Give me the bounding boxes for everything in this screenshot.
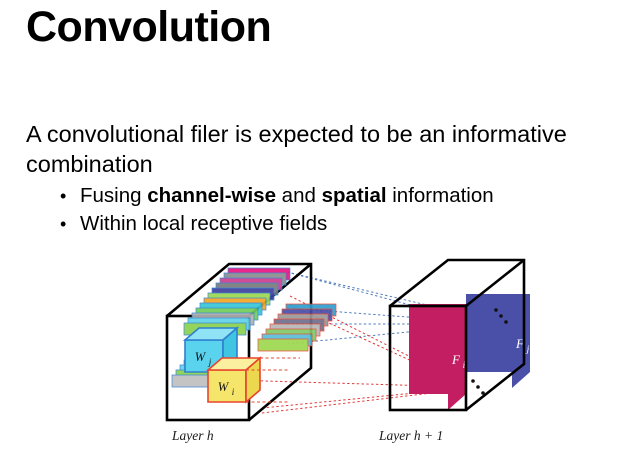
- bullet-0-bold-2: spatial: [322, 184, 387, 207]
- convolution-diagram: W j W i F j F i: [0, 248, 640, 454]
- bullet-marker-icon: •: [60, 210, 80, 238]
- caption-layer-h-plus-1: Layer h + 1: [379, 428, 443, 444]
- bullet-0-prefix: Fusing: [80, 184, 147, 207]
- bullet-1-prefix: Within local receptive fields: [80, 212, 327, 235]
- caption-layer-h: Layer h: [172, 428, 214, 444]
- list-item-label: Within local receptive fields: [80, 210, 327, 238]
- svg-text:j: j: [208, 357, 212, 367]
- list-item: • Within local receptive fields: [60, 210, 620, 238]
- filter-box-wj-label: W: [195, 350, 207, 364]
- filter-box-wi-label: W: [218, 380, 230, 394]
- ellipsis-lower-icon: [471, 379, 485, 395]
- list-item: • Fusing channel-wise and spatial inform…: [60, 182, 620, 210]
- output-panel-fi-label: F: [451, 352, 461, 367]
- output-panel-fi: F i: [409, 304, 466, 410]
- page-title: Convolution: [26, 0, 271, 54]
- bullet-0-suffix: information: [387, 184, 494, 207]
- bullet-0-bold-1: channel-wise: [147, 184, 276, 207]
- filter-box-wi: W i: [208, 358, 260, 402]
- list-item-label: Fusing channel-wise and spatial informat…: [80, 182, 494, 210]
- output-panel-fj: F j: [466, 294, 530, 388]
- bullet-marker-icon: •: [60, 182, 80, 210]
- bullet-list: • Fusing channel-wise and spatial inform…: [60, 182, 620, 238]
- bullet-0-middle: and: [276, 184, 322, 207]
- body-paragraph: A convolutional filer is expected to be …: [26, 119, 634, 179]
